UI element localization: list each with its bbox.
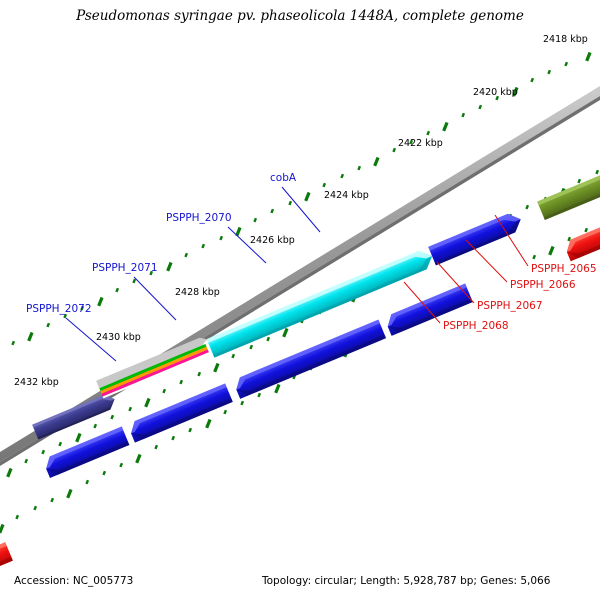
ruler-labels: 2418 kbp 2420 kbp 2422 kbp 2424 kbp 2426… xyxy=(14,34,588,388)
ruler-tick-label: 2420 kbp xyxy=(473,87,518,98)
genome-map-viewer: Pseudomonas syringae pv. phaseolicola 14… xyxy=(0,0,600,600)
gene-lower-red-far-left[interactable] xyxy=(0,542,13,597)
footer-bar: Accession: NC_005773 Topology: circular;… xyxy=(14,575,551,587)
gene-PSPPH_2065[interactable] xyxy=(563,211,600,262)
gene-label-PSPPH_2071[interactable]: PSPPH_2071 xyxy=(92,262,158,274)
gene-PSPPH_2068[interactable] xyxy=(537,165,600,220)
ruler-tick-label: 2432 kbp xyxy=(14,377,59,388)
gene-label-PSPPH_2067[interactable]: PSPPH_2067 xyxy=(477,300,543,312)
leader-line-PSPPH_2066 xyxy=(466,240,507,282)
leader-line-PSPPH_2071 xyxy=(134,277,176,320)
gene-lower-blue-left[interactable] xyxy=(42,427,129,479)
ruler-tick-label: 2430 kbp xyxy=(96,332,141,343)
leader-line-cobA xyxy=(282,187,320,232)
gene-label-PSPPH_2070[interactable]: PSPPH_2070 xyxy=(166,212,232,224)
gene-label-PSPPH_2072[interactable]: PSPPH_2072 xyxy=(26,303,92,315)
gene-label-PSPPH_2068[interactable]: PSPPH_2068 xyxy=(443,320,509,332)
gene-labels-blue: PSPPH_2072 PSPPH_2071 PSPPH_2070 cobA xyxy=(26,172,320,361)
gene-label-PSPPH_2066[interactable]: PSPPH_2066 xyxy=(510,279,576,291)
gene-label-cobA[interactable]: cobA xyxy=(270,172,297,184)
ruler-tick-label: 2422 kbp xyxy=(398,138,443,149)
ruler-tick-label: 2418 kbp xyxy=(543,34,588,45)
gene-stripe-stack[interactable] xyxy=(96,335,212,398)
ruler-tick-label: 2428 kbp xyxy=(175,287,220,298)
page-title: Pseudomonas syringae pv. phaseolicola 14… xyxy=(75,8,524,24)
accession-text: Accession: NC_005773 xyxy=(14,575,133,587)
gene-PSPPH_2071[interactable] xyxy=(127,383,233,442)
gene-PSPPH_2072[interactable] xyxy=(32,392,118,440)
ruler-tick-label: 2426 kbp xyxy=(250,235,295,246)
genome-summary-text: Topology: circular; Length: 5,928,787 bp… xyxy=(261,575,551,587)
gene-label-PSPPH_2065[interactable]: PSPPH_2065 xyxy=(531,263,597,275)
ruler-tick-label: 2424 kbp xyxy=(324,190,369,201)
